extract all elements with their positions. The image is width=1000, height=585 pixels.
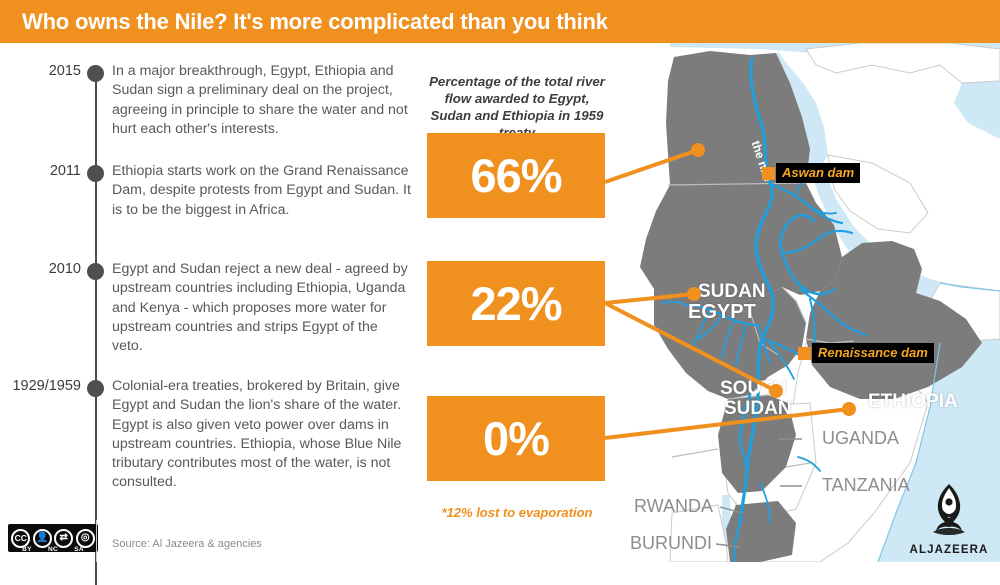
cc-icon: CC [11, 529, 30, 548]
dam-square-icon [762, 167, 775, 180]
cc-by-icon: 👤 [33, 529, 52, 548]
timeline-dot-icon [87, 380, 104, 397]
map-label-tanzania: TANZANIA [822, 475, 910, 496]
map-panel: EGYPT the nile SUDAN SOUTH SUDAN ETHIOPI… [610, 43, 1000, 562]
source-credit: Source: Al Jazeera & agencies [112, 538, 262, 550]
aljazeera-calligraphy-icon [921, 482, 977, 538]
timeline-year: 2015 [49, 63, 81, 79]
header-bar: Who owns the Nile? It's more complicated… [0, 0, 1000, 43]
dam-marker-aswan: Aswan dam [762, 163, 860, 183]
timeline-text: Egypt and Sudan reject a new deal - agre… [112, 260, 412, 356]
aljazeera-logo: ALJAZEERA [906, 482, 992, 556]
timeline-panel: 2015 In a major breakthrough, Egypt, Eth… [0, 43, 420, 562]
map-label-ethiopia: ETHIOPIA [868, 391, 958, 413]
timeline-text: In a major breakthrough, Egypt, Ethiopia… [112, 62, 412, 139]
stat-value-ethiopia: 0% [483, 415, 549, 462]
map-label-sudan-text: SUDAN [698, 281, 766, 303]
map-label-egypt: EGYPT [688, 301, 756, 324]
stat-box-egypt: 66% [427, 133, 605, 218]
footer-divider [96, 520, 97, 562]
cc-label-by: BY [22, 546, 32, 553]
stats-caption: Percentage of the total river flow award… [427, 73, 607, 141]
timeline-year: 2010 [49, 261, 81, 277]
timeline-text: Ethiopia starts work on the Grand Renais… [112, 162, 412, 220]
timeline-text: Colonial-era treaties, brokered by Brita… [112, 377, 412, 493]
stats-footnote: *12% lost to evaporation [427, 505, 607, 520]
timeline-dot-icon [87, 263, 104, 280]
dam-marker-renaissance: Renaissance dam [798, 343, 934, 363]
cc-sa-icon: ◎ [76, 529, 95, 548]
stat-value-egypt: 66% [470, 152, 561, 199]
cc-label-row: BY NC SA [8, 546, 98, 553]
stat-value-sudan: 22% [470, 280, 561, 327]
map-label-south-sudan-line1: SOUTH [720, 378, 787, 400]
page-title: Who owns the Nile? It's more complicated… [22, 9, 608, 35]
timeline-dot-icon [87, 165, 104, 182]
cc-nc-icon: ⇄ [54, 529, 73, 548]
map-label-rwanda: RWANDA [634, 496, 713, 517]
timeline-year: 2011 [50, 163, 81, 179]
infographic-root: Who owns the Nile? It's more complicated… [0, 0, 1000, 562]
timeline-dot-icon [87, 65, 104, 82]
dam-square-icon [798, 347, 811, 360]
map-label-burundi: BURUNDI [630, 533, 712, 554]
timeline-year: 1929/1959 [12, 378, 81, 394]
stat-box-sudan: 22% [427, 261, 605, 346]
cc-label-sa: SA [74, 546, 84, 553]
aljazeera-wordmark: ALJAZEERA [906, 544, 992, 556]
cc-label-nc: NC [48, 546, 58, 553]
dam-label-aswan: Aswan dam [776, 163, 860, 183]
stat-box-ethiopia: 0% [427, 396, 605, 481]
map-label-south-sudan-line2: SUDAN [724, 398, 792, 420]
timeline-axis [95, 65, 97, 585]
dam-label-renaissance: Renaissance dam [812, 343, 934, 363]
map-label-uganda: UGANDA [822, 428, 899, 449]
